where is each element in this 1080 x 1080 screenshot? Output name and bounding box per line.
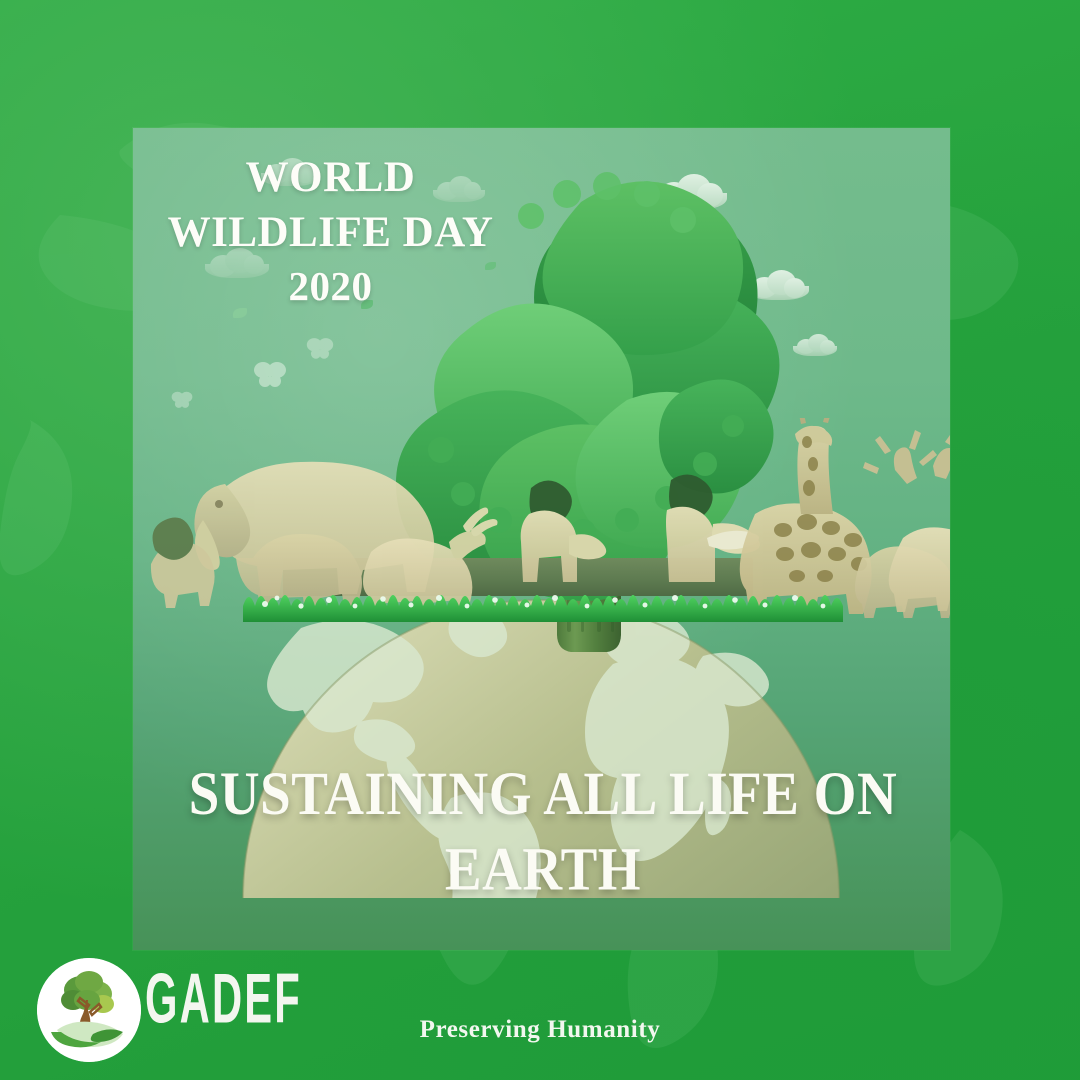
artwork-panel: WORLD WILDLIFE DAY 2020 SUSTAINING ALL L… (133, 128, 950, 950)
footer-bar: GADEF Preserving Humanity (0, 950, 1080, 1080)
cloud-icon (793, 334, 837, 356)
title-line-1: WORLD (158, 150, 503, 205)
page-title: WORLD WILDLIFE DAY 2020 (158, 150, 503, 313)
grass-strip-icon (243, 580, 843, 622)
title-year: 2020 (158, 260, 503, 312)
slogan-line-2: EARTH (173, 831, 913, 906)
poster-canvas: WORLD WILDLIFE DAY 2020 SUSTAINING ALL L… (0, 0, 1080, 1080)
brand-tagline: Preserving Humanity (0, 1016, 1080, 1044)
butterfly-icon (253, 360, 287, 388)
butterfly-icon (306, 336, 334, 360)
slogan-line-1: SUSTAINING ALL LIFE ON (173, 756, 913, 831)
slogan: SUSTAINING ALL LIFE ON EARTH (173, 756, 913, 906)
tree-in-hand-icon (37, 958, 141, 1062)
butterfly-icon (171, 390, 193, 409)
title-line-2: WILDLIFE DAY (158, 205, 503, 260)
